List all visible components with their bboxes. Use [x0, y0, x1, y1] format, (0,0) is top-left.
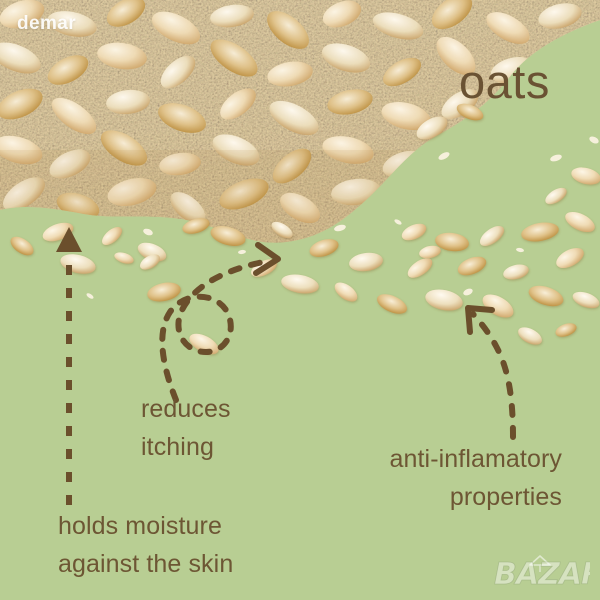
page-title: oats: [459, 58, 550, 105]
watermark-demar: demar: [17, 14, 76, 33]
arrow-straight-up-icon: [56, 227, 82, 505]
arrow-curve-up-left-icon: [473, 314, 513, 437]
watermark-bazar: BAZAR: [492, 552, 590, 594]
arrow-loop-head-icon: [256, 245, 278, 273]
oats-infographic: oats holds moisture against the skin red…: [0, 0, 600, 600]
callout-reduces-itching: reduces itching: [141, 391, 231, 466]
watermark-bazar-text: BAZAR: [494, 557, 590, 592]
arrow-loop-up-right-icon: [162, 261, 268, 400]
callout-holds-moisture: holds moisture against the skin: [58, 508, 233, 583]
callout-anti-inflamatory: anti-inflamatory properties: [307, 441, 562, 516]
